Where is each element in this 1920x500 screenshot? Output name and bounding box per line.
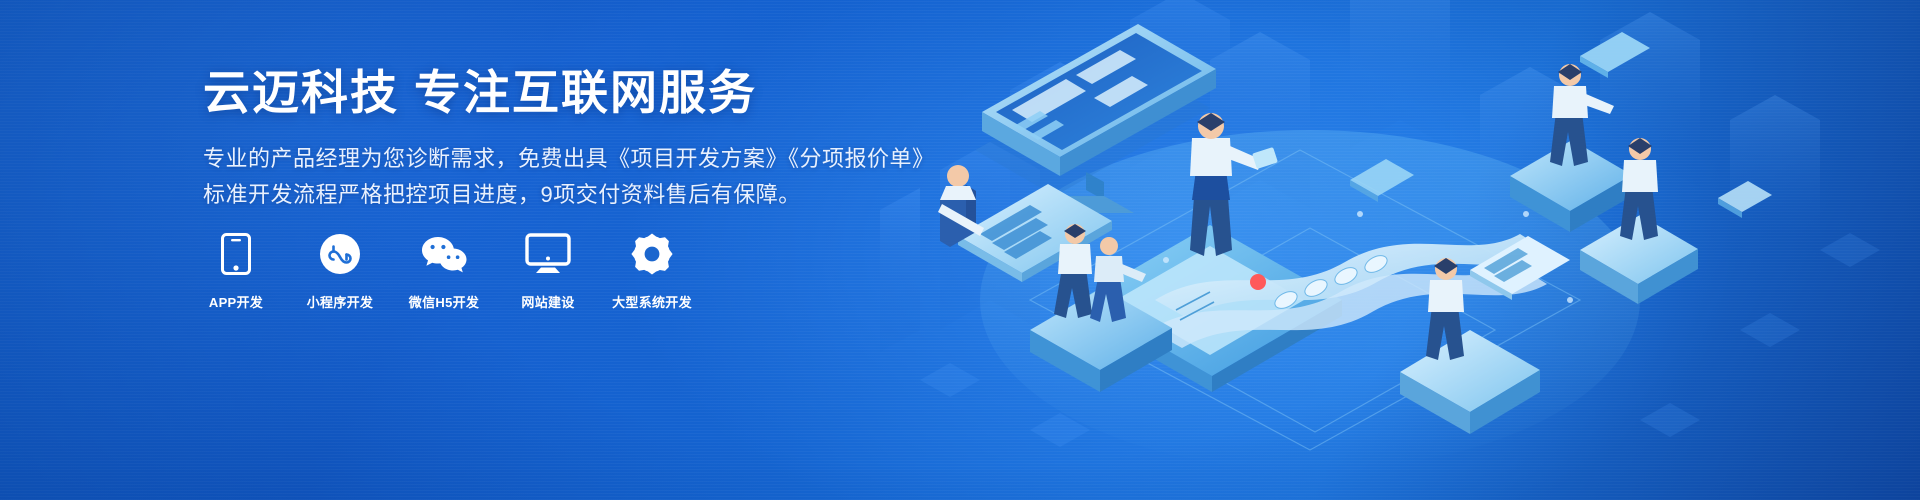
service-label: 大型系统开发 [612,292,692,311]
wechat-icon [420,232,468,276]
service-label: 网站建设 [521,292,574,311]
mobile-phone-icon [221,232,251,276]
service-label: APP开发 [209,292,263,311]
service-label: 小程序开发 [307,292,374,311]
banner-subtitle-line-1: 专业的产品经理为您诊断需求，免费出具《项目开发方案》《分项报价单》 [203,142,903,176]
banner-headline: 云迈科技 专注互联网服务 [203,66,903,120]
banner-copy: 云迈科技 专注互联网服务 专业的产品经理为您诊断需求，免费出具《项目开发方案》《… [203,66,903,212]
gear-icon [630,232,674,276]
service-item-website[interactable]: 网站建设 [512,232,584,311]
mini-program-icon [319,232,361,276]
monitor-icon [525,232,571,276]
service-item-app[interactable]: APP开发 [200,232,272,311]
service-item-wechat-h5[interactable]: 微信H5开发 [408,232,480,311]
banner-subtitle-line-2: 标准开发流程严格把控项目进度，9项交付资料售后有保障。 [203,178,903,212]
isometric-illustration [880,0,1920,500]
service-item-mini-program[interactable]: 小程序开发 [304,232,376,311]
service-list: APP开发 小程序开发 [200,232,688,311]
hero-banner: 云迈科技 专注互联网服务 专业的产品经理为您诊断需求，免费出具《项目开发方案》《… [0,0,1920,500]
service-label: 微信H5开发 [409,292,479,311]
service-item-large-system[interactable]: 大型系统开发 [616,232,688,311]
